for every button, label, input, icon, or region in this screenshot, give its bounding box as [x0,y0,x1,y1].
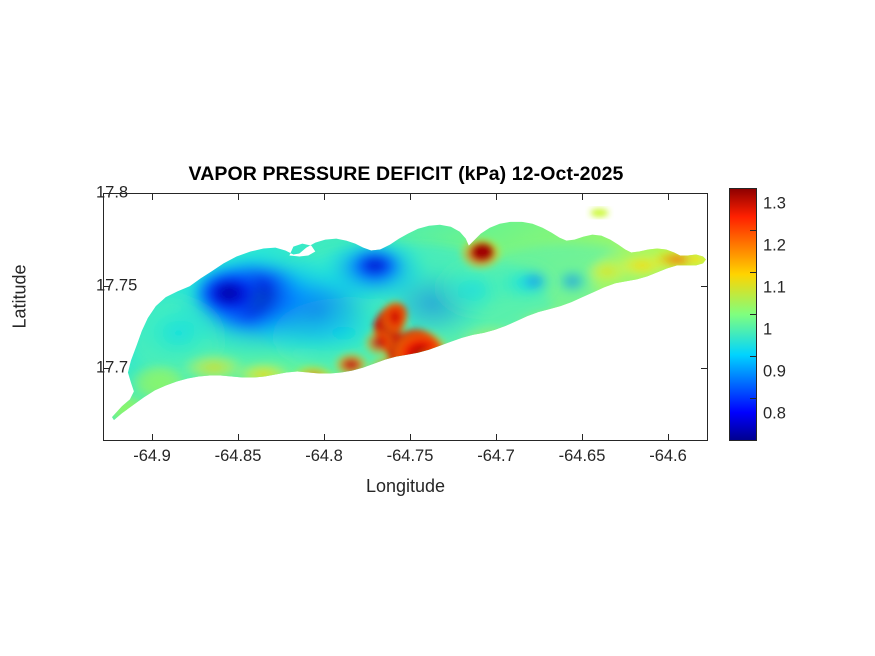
cb-ticklabel-1: 1.2 [763,237,786,256]
buck-island-patch [590,209,608,217]
xticklabel-3: -64.75 [387,447,434,466]
xticklabel-2: -64.8 [305,447,343,466]
map-axes[interactable] [103,193,708,441]
cb-ticklabel-3: 1 [763,321,772,340]
tick-x-2 [324,193,325,200]
cb-ticklabel-2: 1.1 [763,279,786,298]
cb-ticklabel-0: 1.3 [763,195,786,214]
tick-x-bottom-0 [152,434,153,441]
interpolated-field [104,194,707,440]
cb-tick-0 [750,230,756,231]
xticklabel-6: -64.6 [649,447,687,466]
cb-tick-2 [750,314,756,315]
tick-x-bottom-3 [410,434,411,441]
vpd-heatmap-surface [104,194,707,440]
tick-x-bottom-2 [324,434,325,441]
xticklabel-1: -64.85 [215,447,262,466]
tick-x-3 [410,193,411,200]
page-title: VAPOR PRESSURE DEFICIT (kPa) 12-Oct-2025 [103,163,709,186]
tick-y-right-1 [701,286,708,287]
cb-tick-4 [750,398,756,399]
tick-x-4 [496,193,497,200]
cb-ticklabel-5: 0.8 [763,405,786,424]
xticklabel-0: -64.9 [133,447,171,466]
tick-x-bottom-5 [582,434,583,441]
tick-x-5 [582,193,583,200]
cb-tick-3 [750,356,756,357]
xticklabel-4: -64.7 [477,447,515,466]
y-axis-label: Latitude [10,242,31,352]
cb-ticklabel-4: 0.9 [763,363,786,382]
xticklabel-5: -64.65 [559,447,606,466]
tick-x-bottom-4 [496,434,497,441]
tick-y-right-2 [701,368,708,369]
figure-canvas: VAPOR PRESSURE DEFICIT (kPa) 12-Oct-2025 [0,0,875,656]
tick-x-1 [238,193,239,200]
x-axis-label: Longitude [103,476,708,497]
tick-x-bottom-1 [238,434,239,441]
cb-tick-1 [750,272,756,273]
tick-x-6 [668,193,669,200]
tick-x-0 [152,193,153,200]
tick-x-bottom-6 [668,434,669,441]
